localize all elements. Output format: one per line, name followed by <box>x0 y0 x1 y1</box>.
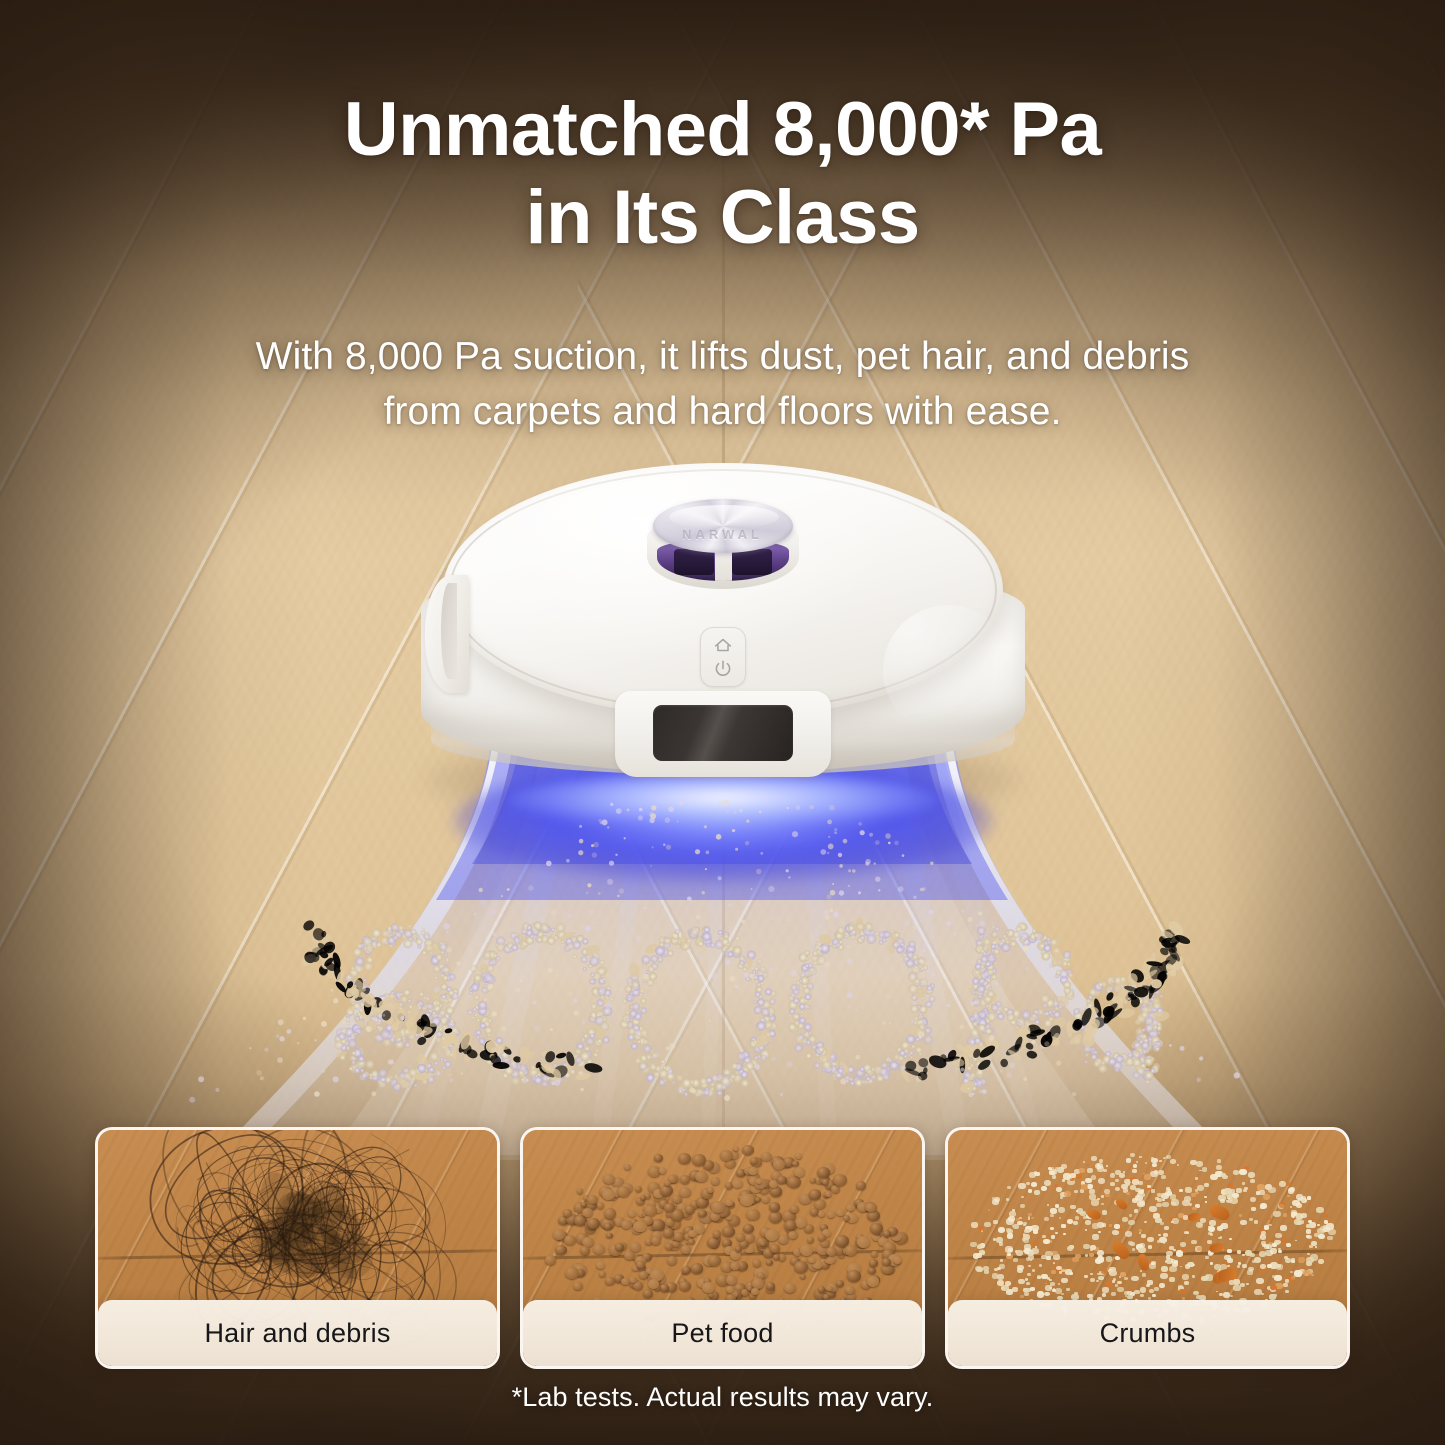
headline: Unmatched 8,000* Pa in Its Class <box>0 86 1445 262</box>
robot-button-pad[interactable] <box>700 627 746 687</box>
lidar-aperture-left <box>674 549 714 575</box>
robot-bumper-slot <box>441 583 457 679</box>
robot-vacuum: NARWAL <box>413 455 1033 800</box>
lidar-turret: NARWAL <box>647 497 799 589</box>
headline-line-2: in Its Class <box>0 174 1445 262</box>
card-label-hair: Hair and debris <box>98 1300 497 1366</box>
product-marketing-image: NARWAL Unmatched 8,000* Pa in Its Class … <box>0 0 1445 1445</box>
subheadline-line-2: from carpets and hard floors with ease. <box>0 385 1445 440</box>
brand-emboss: NARWAL <box>647 527 799 542</box>
card-label-pet-food: Pet food <box>523 1300 922 1366</box>
home-dock-icon[interactable] <box>712 634 734 656</box>
power-icon[interactable] <box>712 658 734 680</box>
card-label-crumbs: Crumbs <box>948 1300 1347 1366</box>
lidar-aperture-right <box>732 549 772 575</box>
front-sensor-window <box>653 705 793 761</box>
card-pet-food[interactable]: Pet food <box>520 1127 925 1369</box>
card-crumbs[interactable]: Crumbs <box>945 1127 1350 1369</box>
footnote: *Lab tests. Actual results may vary. <box>0 1382 1445 1413</box>
subheadline: With 8,000 Pa suction, it lifts dust, pe… <box>0 330 1445 439</box>
subheadline-line-1: With 8,000 Pa suction, it lifts dust, pe… <box>256 335 1190 378</box>
robot-rim-highlight <box>883 605 1013 735</box>
lidar-cap-gloss <box>669 505 779 529</box>
headline-line-1: Unmatched 8,000* Pa <box>344 87 1101 172</box>
card-hair-and-debris[interactable]: Hair and debris <box>95 1127 500 1369</box>
lidar-metal-cap <box>653 499 793 553</box>
debris-type-cards: Hair and debris Pet food Crumbs <box>95 1127 1350 1369</box>
